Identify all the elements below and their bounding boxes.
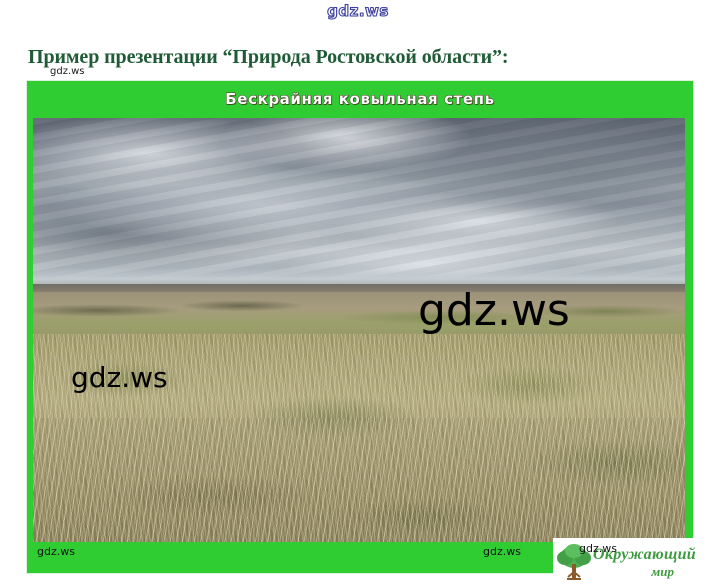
bottom-bar-watermark-center: gdz.ws bbox=[483, 545, 521, 558]
slide-title: Бескрайняя ковыльная степь bbox=[225, 90, 494, 108]
presentation-slide[interactable]: Бескрайняя ковыльная степь gdz.ws gdz.ws… bbox=[27, 81, 693, 573]
slide-title-bar: Бескрайняя ковыльная степь bbox=[27, 81, 693, 117]
photo-watermark-large: gdz.ws bbox=[418, 285, 570, 336]
page-title: Пример презентации “Природа Ростовской о… bbox=[28, 46, 508, 69]
logo-watermark: gdz.ws bbox=[579, 542, 617, 555]
slide-photo: gdz.ws gdz.ws gdz.ws gdz.ws gdz.ws gdz.w… bbox=[33, 118, 685, 542]
photo-midground bbox=[33, 292, 685, 338]
site-logo[interactable]: Окружающий мир bbox=[553, 538, 716, 586]
photo-cloud-bands bbox=[33, 118, 685, 284]
logo-line-2: мир bbox=[593, 565, 696, 578]
photo-watermark-medium: gdz.ws bbox=[71, 361, 168, 394]
top-page-watermark: gdz.ws bbox=[0, 2, 716, 20]
photo-grass-texture-foreground bbox=[33, 418, 685, 542]
heading-watermark: gdz.ws bbox=[50, 66, 85, 77]
bottom-bar-watermark-left: gdz.ws bbox=[37, 545, 75, 558]
